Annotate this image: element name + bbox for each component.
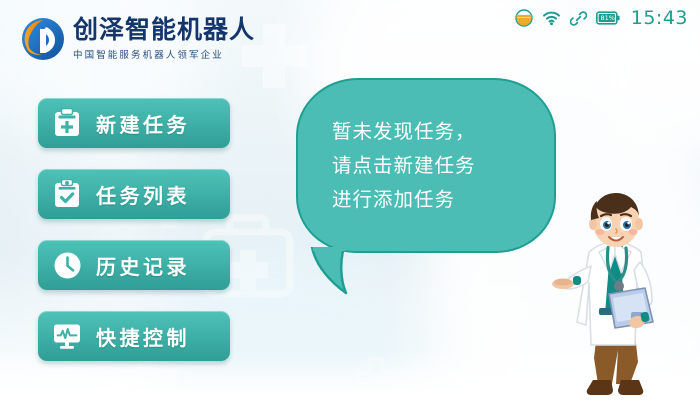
clipboard-plus-icon: [44, 98, 90, 148]
quick-control-label: 快捷控制: [96, 322, 190, 351]
speech-bubble-tail: [310, 247, 370, 297]
clock-time: 15:43: [631, 7, 688, 29]
bubble-line: 暂未发现任务，: [332, 115, 554, 149]
history-label: 历史记录: [96, 251, 190, 280]
brand-title: 创泽智能机器人: [73, 17, 255, 43]
new-task-button[interactable]: 新建任务: [38, 98, 230, 148]
brand-tagline: 中国智能服务机器人领军企业: [73, 47, 255, 61]
clock-icon: [44, 240, 90, 290]
medical-cross-watermark: [354, 356, 398, 400]
doctor-mascot: [545, 190, 685, 405]
bubble-line: 请点击新建任务: [332, 149, 554, 183]
main-menu: 新建任务 任务列表 历史记录: [38, 98, 230, 361]
speech-bubble: 暂未发现任务， 请点击新建任务 进行添加任务: [296, 78, 556, 253]
link-icon[interactable]: [570, 10, 587, 27]
wifi-icon[interactable]: [542, 10, 561, 26]
battery-icon[interactable]: 81%: [596, 11, 620, 25]
battery-level-label: 81%: [598, 11, 618, 25]
clipboard-check-icon: [44, 169, 90, 219]
bubble-line: 进行添加任务: [332, 183, 554, 217]
history-button[interactable]: 历史记录: [38, 240, 230, 290]
task-list-button[interactable]: 任务列表: [38, 169, 230, 219]
app-root: 81% 15:43: [0, 0, 700, 410]
brand-logo: 创泽智能机器人 中国智能服务机器人领军企业: [20, 16, 255, 62]
new-task-label: 新建任务: [96, 109, 190, 138]
speech-bubble-body: 暂未发现任务， 请点击新建任务 进行添加任务: [296, 78, 556, 253]
task-list-label: 任务列表: [96, 180, 190, 209]
brightness-icon[interactable]: [515, 9, 533, 27]
chuangze-circle-logo-icon: [20, 16, 66, 62]
monitor-waveform-icon: [44, 311, 90, 361]
quick-control-button[interactable]: 快捷控制: [38, 311, 230, 361]
status-bar: 81% 15:43: [515, 6, 688, 30]
